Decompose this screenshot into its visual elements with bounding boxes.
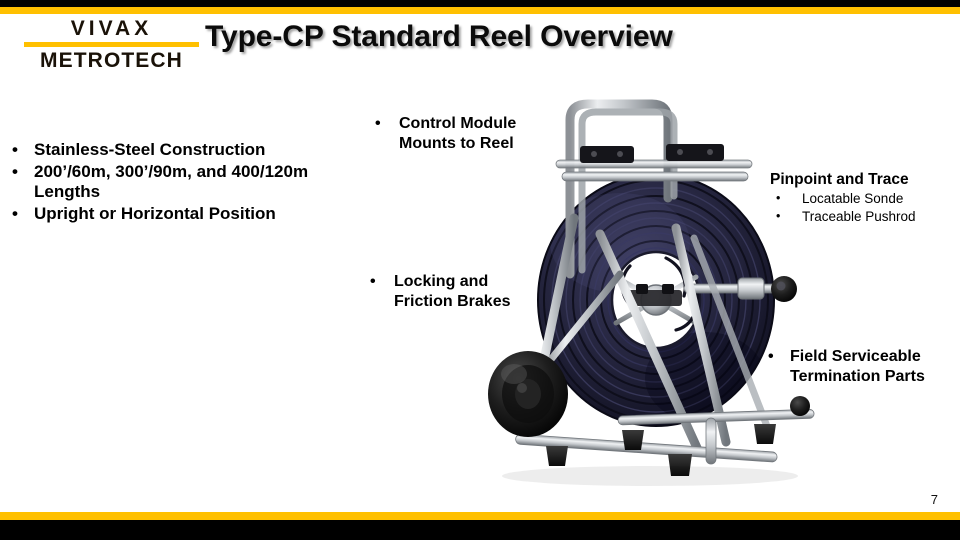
bullet-icon: •	[8, 140, 34, 161]
slide-canvas: VIVAX METROTECH Type-CP Standard Reel Ov…	[0, 0, 960, 540]
top-gold-band	[0, 7, 960, 14]
callout-label: Control Module Mounts to Reel	[399, 114, 560, 153]
list-item-label: Locatable Sonde	[802, 191, 956, 207]
logo-line-vivax: VIVAX	[24, 18, 199, 39]
bullet-icon: •	[770, 191, 802, 206]
callout-control-module: • Control Module Mounts to Reel	[375, 114, 560, 153]
bottom-black-band	[0, 520, 960, 540]
list-item: • Upright or Horizontal Position	[8, 204, 348, 225]
list-item: • Locatable Sonde	[770, 191, 956, 207]
list-item: • Traceable Pushrod	[770, 209, 956, 225]
callout-field-serviceable: • Field Serviceable Termination Parts	[768, 347, 960, 386]
list-item: • Control Module Mounts to Reel	[375, 114, 560, 153]
list-item-label: Traceable Pushrod	[802, 209, 956, 225]
page-title: Type-CP Standard Reel Overview	[205, 20, 673, 54]
left-feature-list: • Stainless-Steel Construction • 200’/60…	[8, 140, 348, 226]
bullet-icon: •	[8, 162, 34, 183]
bottom-gold-band	[0, 512, 960, 520]
bullet-icon: •	[375, 114, 399, 134]
group-pinpoint-and-trace: Pinpoint and Trace • Locatable Sonde • T…	[770, 170, 956, 226]
page-number: 7	[931, 492, 938, 507]
logo-gold-rule	[24, 42, 199, 47]
list-item-label: Stainless-Steel Construction	[34, 140, 348, 161]
list-item: • Field Serviceable Termination Parts	[768, 347, 960, 386]
top-black-band	[0, 0, 960, 7]
transport-wheel	[488, 351, 568, 437]
list-item: • Locking and Friction Brakes	[370, 272, 560, 311]
callout-label: Field Serviceable Termination Parts	[790, 347, 960, 386]
bullet-icon: •	[8, 204, 34, 225]
callout-label: Locking and Friction Brakes	[394, 272, 560, 311]
logo-line-metrotech: METROTECH	[24, 50, 199, 71]
list-item-label: Upright or Horizontal Position	[34, 204, 348, 225]
bullet-icon: •	[768, 347, 790, 367]
bullet-icon: •	[770, 209, 802, 224]
callout-brakes: • Locking and Friction Brakes	[370, 272, 560, 311]
bullet-icon: •	[370, 272, 394, 292]
brand-logo: VIVAX METROTECH	[24, 18, 199, 71]
list-item: • Stainless-Steel Construction	[8, 140, 348, 161]
list-item-label: 200’/60m, 300’/90m, and 400/120m Lengths	[34, 162, 348, 203]
group-heading: Pinpoint and Trace	[770, 170, 956, 189]
list-item: • 200’/60m, 300’/90m, and 400/120m Lengt…	[8, 162, 348, 203]
